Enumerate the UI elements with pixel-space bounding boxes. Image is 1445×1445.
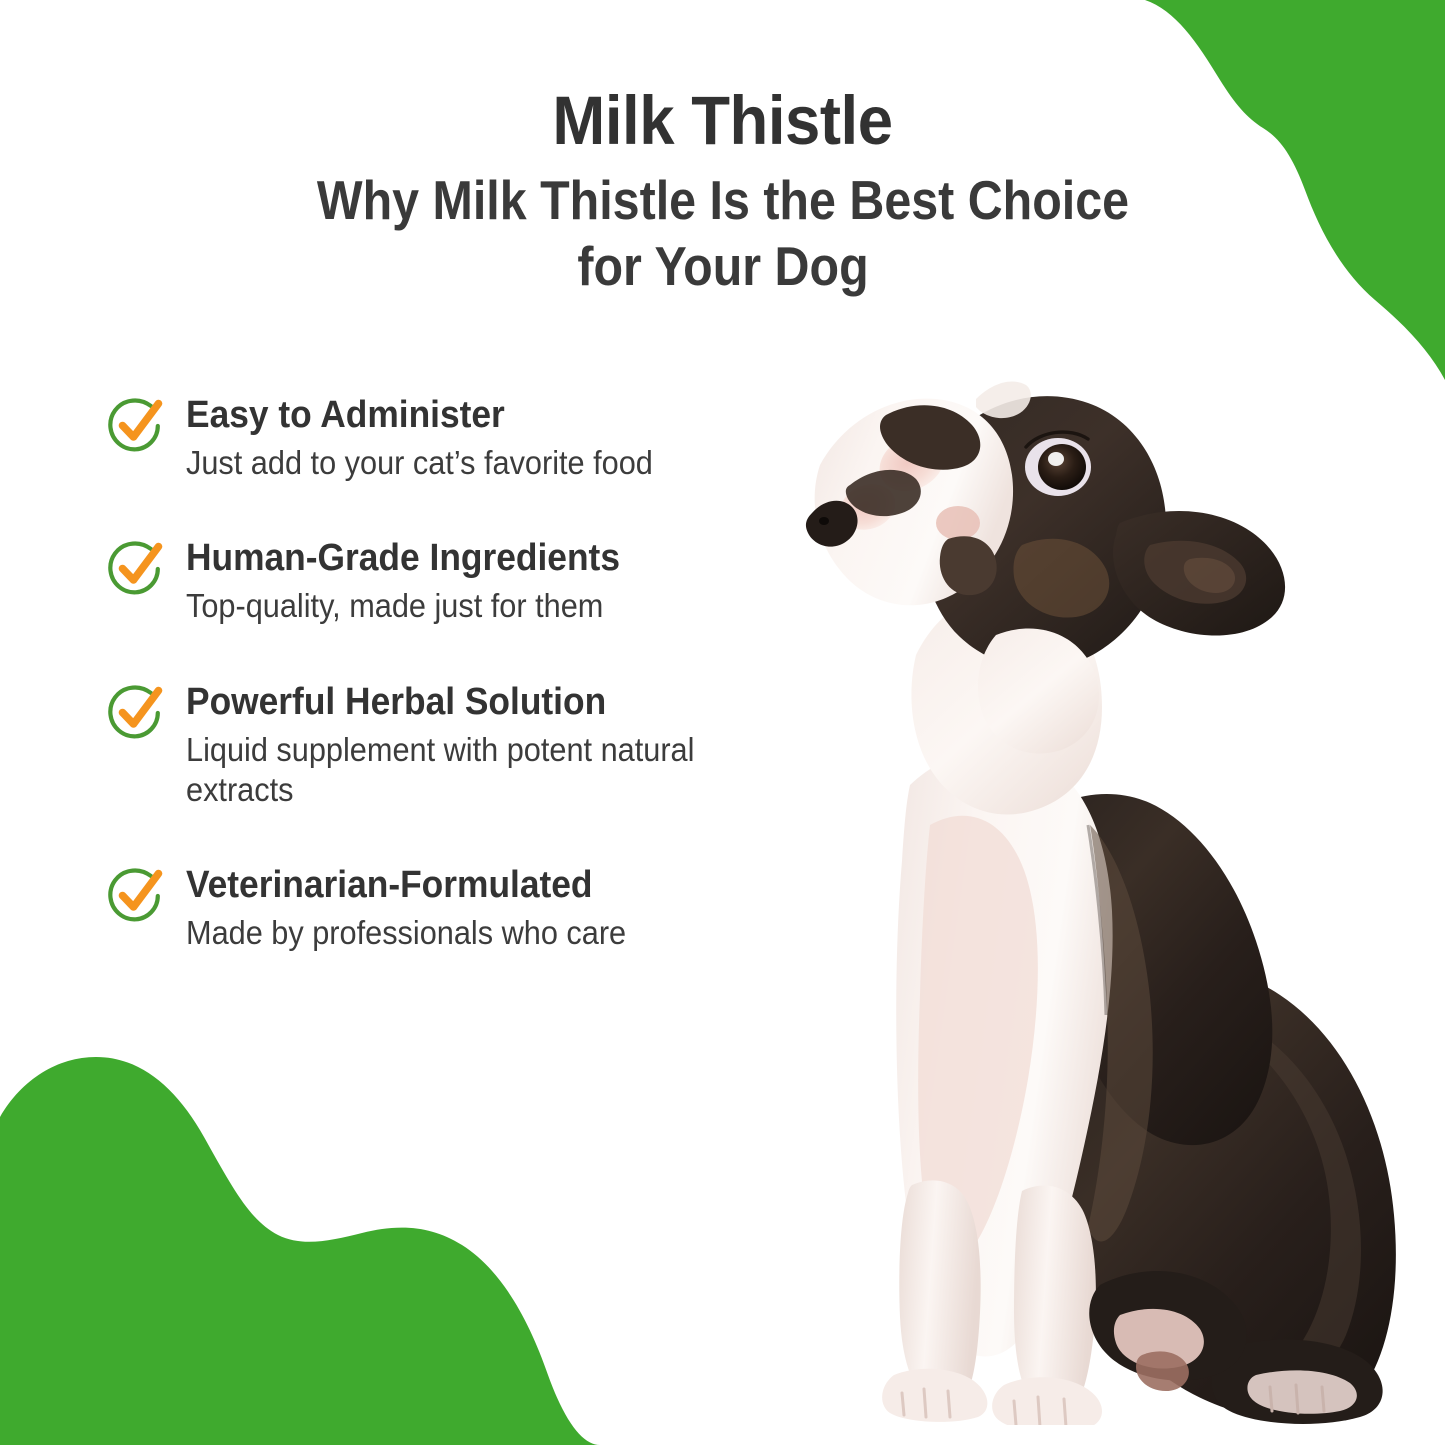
feature-description: Liquid supplement with potent natural ex…: [186, 730, 707, 811]
check-circle-icon: [104, 681, 170, 747]
feature-title: Easy to Administer: [186, 395, 653, 436]
feature-title: Human-Grade Ingredients: [186, 538, 620, 579]
feature-title: Veterinarian-Formulated: [186, 865, 626, 906]
feature-text: Veterinarian-Formulated Made by professi…: [186, 862, 659, 953]
header-block: Milk Thistle Why Milk Thistle Is the Bes…: [0, 84, 1445, 299]
feature-description: Top-quality, made just for them: [186, 586, 620, 626]
feature-title: Powerful Herbal Solution: [186, 682, 707, 723]
feature-item-powerful-herbal-solution: Powerful Herbal Solution Liquid suppleme…: [104, 679, 804, 811]
feature-text: Powerful Herbal Solution Liquid suppleme…: [186, 679, 746, 811]
feature-text: Human-Grade Ingredients Top-quality, mad…: [186, 535, 653, 626]
page-title: Milk Thistle: [58, 84, 1387, 157]
infographic-canvas: Milk Thistle Why Milk Thistle Is the Bes…: [0, 0, 1445, 1445]
feature-item-veterinarian-formulated: Veterinarian-Formulated Made by professi…: [104, 862, 804, 953]
check-circle-icon: [104, 537, 170, 603]
dog-photo: [790, 355, 1430, 1425]
feature-item-human-grade-ingredients: Human-Grade Ingredients Top-quality, mad…: [104, 535, 804, 626]
green-blob-bottom-left-icon: [0, 1045, 760, 1445]
feature-text: Easy to Administer Just add to your cat’…: [186, 392, 688, 483]
feature-list: Easy to Administer Just add to your cat’…: [104, 392, 804, 953]
feature-description: Made by professionals who care: [186, 913, 626, 953]
feature-item-easy-to-administer: Easy to Administer Just add to your cat’…: [104, 392, 804, 483]
page-subtitle: Why Milk Thistle Is the Best Choice for …: [283, 167, 1163, 299]
feature-description: Just add to your cat’s favorite food: [186, 443, 653, 483]
check-circle-icon: [104, 864, 170, 930]
check-circle-icon: [104, 394, 170, 460]
